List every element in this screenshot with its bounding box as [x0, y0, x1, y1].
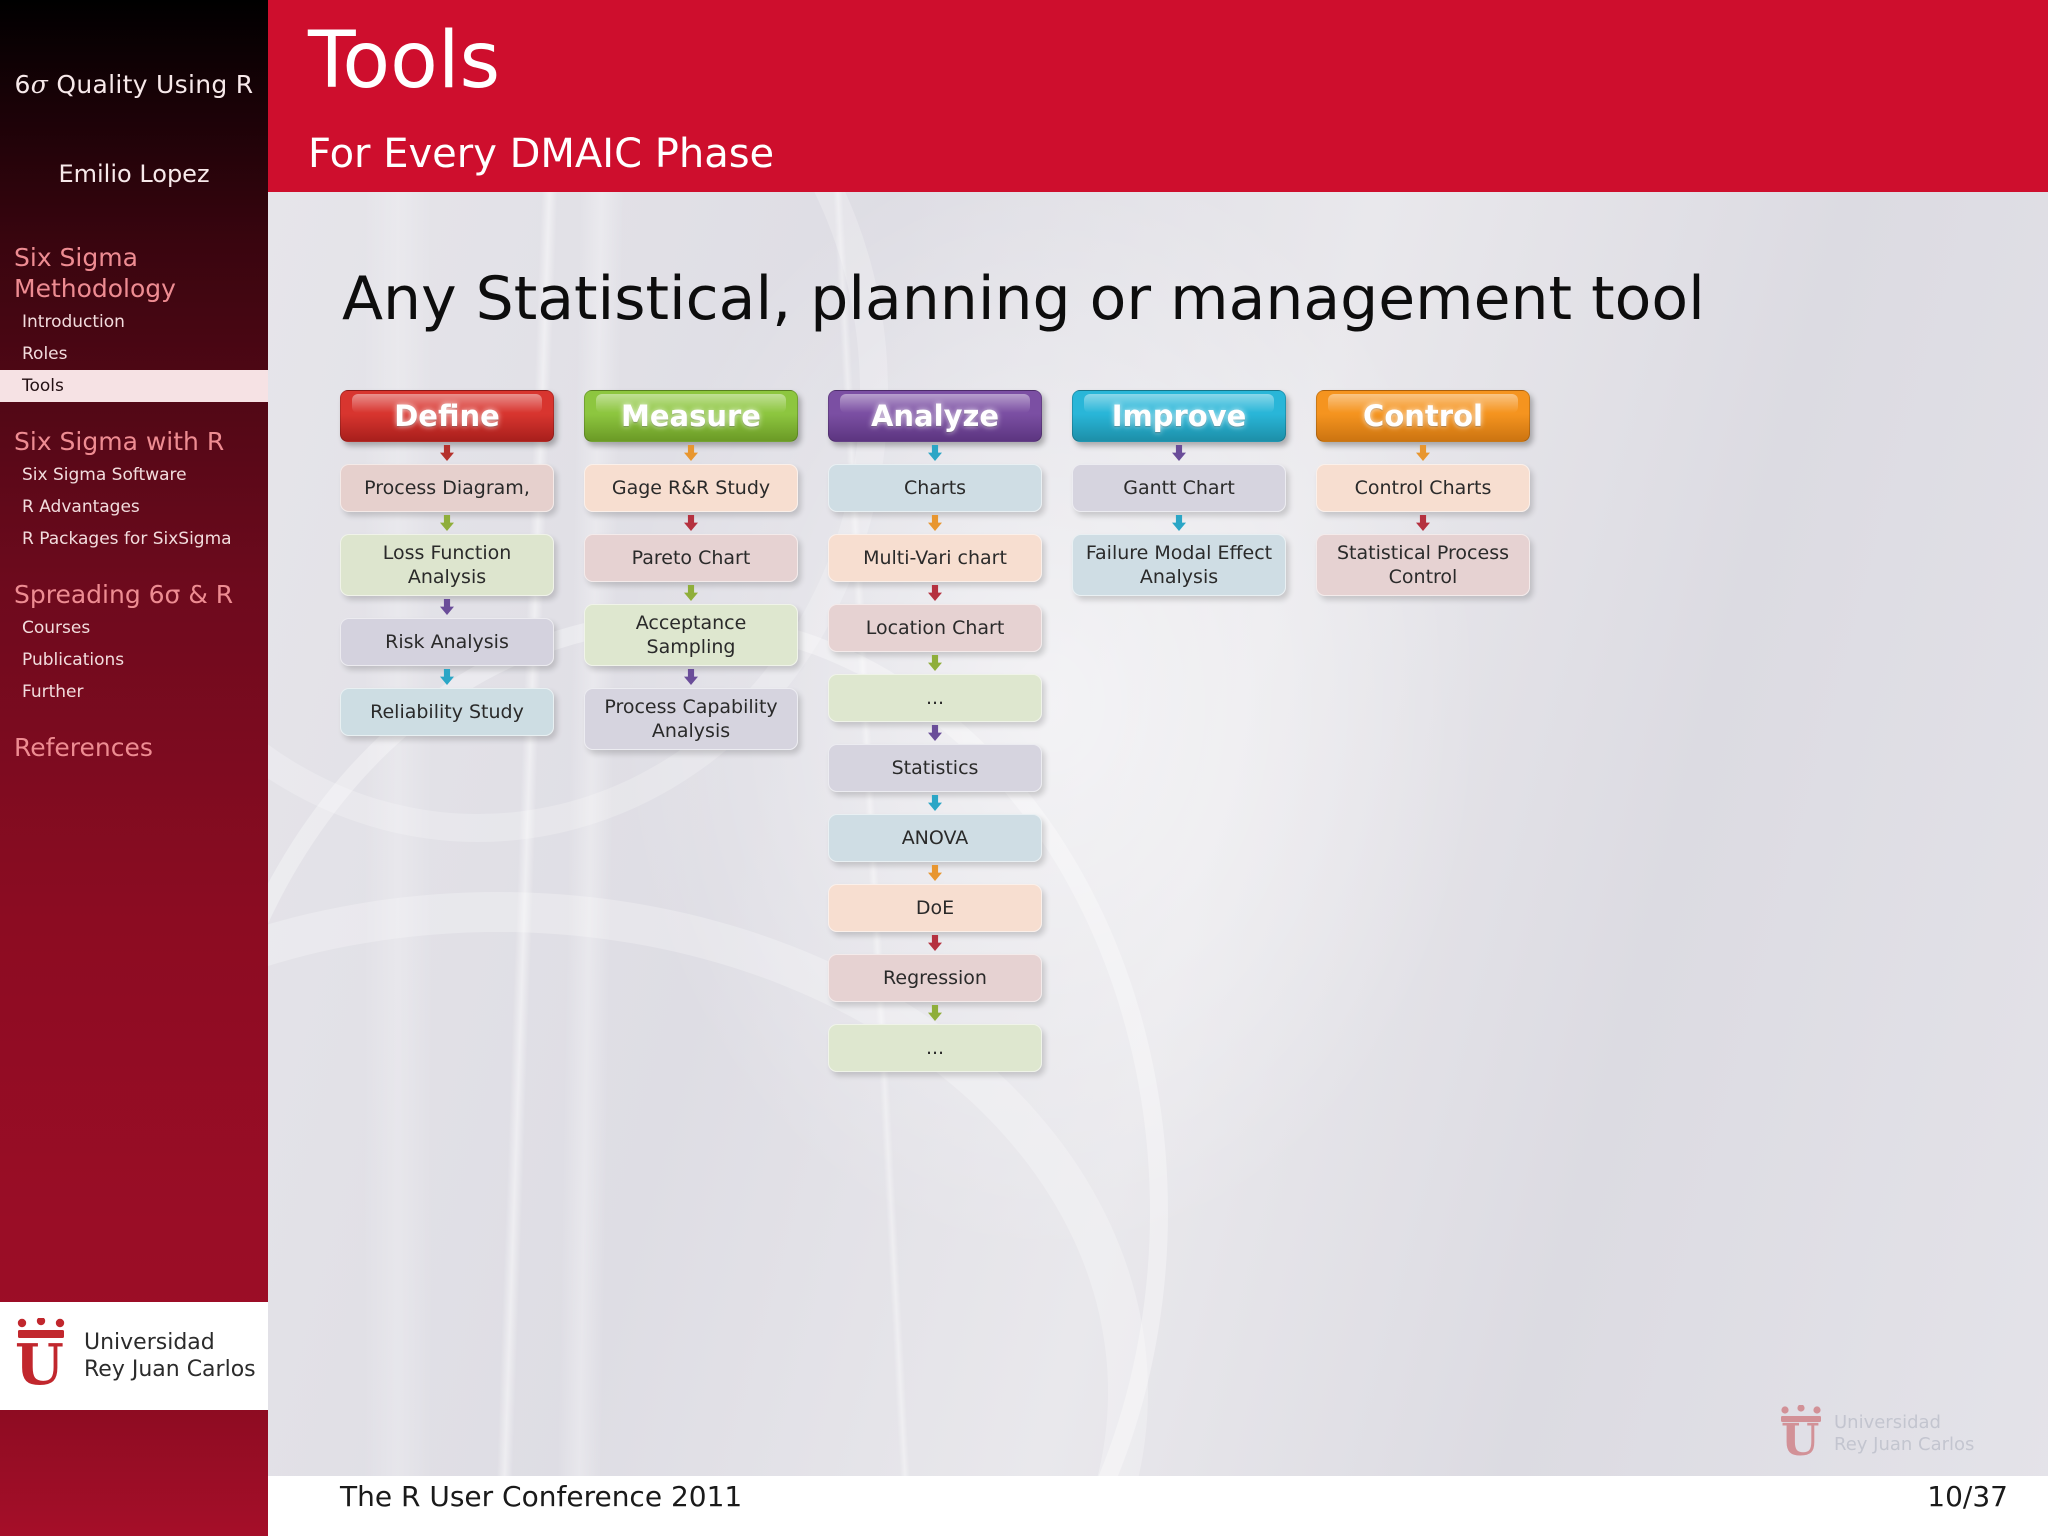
flow-node[interactable]: Charts	[828, 464, 1042, 512]
sidebar-item-six-sigma-methodology[interactable]: Six Sigma Methodology	[0, 236, 268, 306]
slide-body: Any Statistical, planning or management …	[268, 192, 2048, 1536]
urjc-crown-icon: U	[10, 1318, 72, 1394]
flow-node[interactable]: ANOVA	[828, 814, 1042, 862]
arrow-down-icon	[928, 655, 942, 671]
flow-node[interactable]: Pareto Chart	[584, 534, 798, 582]
corner-line1: Universidad	[1834, 1412, 1974, 1434]
flow-connector-arrow-icon	[828, 792, 1042, 814]
flow-connector-arrow-icon	[1072, 512, 1286, 534]
page-number: 10/37	[1927, 1480, 2008, 1513]
flow-node[interactable]: DoE	[828, 884, 1042, 932]
flow-node[interactable]: Gage R&R Study	[584, 464, 798, 512]
arrow-down-icon	[684, 585, 698, 601]
arrow-down-icon	[440, 669, 454, 685]
sidebar-item-further[interactable]: Further	[0, 676, 268, 708]
flow-connector-arrow-icon	[828, 512, 1042, 534]
arrow-down-icon	[440, 515, 454, 531]
flow-connector-arrow-icon	[340, 512, 554, 534]
flow-connector-arrow-icon	[828, 1002, 1042, 1024]
university-line1: Universidad	[84, 1329, 256, 1356]
flow-connector-arrow-icon	[1072, 442, 1286, 464]
flow-connector-arrow-icon	[584, 666, 798, 688]
slide-footer: The R User Conference 2011 10/37	[268, 1476, 2048, 1536]
flow-node[interactable]: ...	[828, 674, 1042, 722]
sidebar-nav: Six Sigma MethodologyIntroductionRolesTo…	[0, 236, 268, 765]
flow-column-define: DefineProcess Diagram,Loss Function Anal…	[340, 390, 554, 1430]
arrow-down-icon	[928, 585, 942, 601]
flow-node[interactable]: Regression	[828, 954, 1042, 1002]
sidebar-gap	[0, 708, 268, 726]
sidebar-item-courses[interactable]: Courses	[0, 612, 268, 644]
university-logo: U Universidad Rey Juan Carlos	[0, 1302, 268, 1410]
sidebar-item-introduction[interactable]: Introduction	[0, 306, 268, 338]
flow-node[interactable]: Process Capability Analysis	[584, 688, 798, 750]
flow-column-measure: MeasureGage R&R StudyPareto ChartAccepta…	[584, 390, 798, 1430]
corner-line2: Rey Juan Carlos	[1834, 1434, 1974, 1456]
dmaic-flow-diagram: DefineProcess Diagram,Loss Function Anal…	[340, 390, 2000, 1430]
arrow-down-icon	[1416, 445, 1430, 461]
arrow-down-icon	[1416, 515, 1430, 531]
corner-crown-icon: U	[1778, 1405, 1824, 1463]
flow-connector-arrow-icon	[828, 932, 1042, 954]
flow-connector-arrow-icon	[828, 442, 1042, 464]
presentation-title: 6σ Quality Using R	[0, 70, 268, 99]
flow-node[interactable]: Acceptance Sampling	[584, 604, 798, 666]
flow-connector-arrow-icon	[340, 596, 554, 618]
flow-connector-arrow-icon	[1316, 442, 1530, 464]
sigma-symbol: σ	[31, 70, 48, 99]
flow-connector-arrow-icon	[340, 666, 554, 688]
slide-subtitle: For Every DMAIC Phase	[308, 132, 774, 176]
sidebar-item-six-sigma-with-r[interactable]: Six Sigma with R	[0, 420, 268, 459]
presentation-author: Emilio Lopez	[0, 160, 268, 188]
corner-university-name: Universidad Rey Juan Carlos	[1834, 1412, 1974, 1456]
title-rest: Quality Using R	[48, 70, 253, 99]
arrow-down-icon	[1172, 445, 1186, 461]
sidebar-item-r-packages-for-sixsigma[interactable]: R Packages for SixSigma	[0, 523, 268, 555]
arrow-down-icon	[928, 725, 942, 741]
flow-node[interactable]: Location Chart	[828, 604, 1042, 652]
sidebar: 6σ Quality Using R Emilio Lopez Six Sigm…	[0, 0, 268, 1536]
body-heading: Any Statistical, planning or management …	[342, 264, 2002, 334]
flow-connector-arrow-icon	[584, 512, 798, 534]
sidebar-item-references[interactable]: References	[0, 726, 268, 765]
flow-connector-arrow-icon	[828, 652, 1042, 674]
phase-header-improve[interactable]: Improve	[1072, 390, 1286, 442]
flow-column-analyze: AnalyzeChartsMulti-Vari chartLocation Ch…	[828, 390, 1042, 1430]
phase-header-analyze[interactable]: Analyze	[828, 390, 1042, 442]
arrow-down-icon	[928, 445, 942, 461]
university-line2: Rey Juan Carlos	[84, 1356, 256, 1383]
flow-node[interactable]: Statistical Process Control	[1316, 534, 1530, 596]
arrow-down-icon	[440, 599, 454, 615]
sidebar-item-publications[interactable]: Publications	[0, 644, 268, 676]
flow-node[interactable]: Gantt Chart	[1072, 464, 1286, 512]
sidebar-bottom-bar	[0, 1410, 268, 1536]
slide-header: Tools For Every DMAIC Phase	[268, 0, 2048, 192]
flow-node[interactable]: Loss Function Analysis	[340, 534, 554, 596]
flow-connector-arrow-icon	[584, 582, 798, 604]
sidebar-item-tools[interactable]: Tools	[0, 370, 268, 402]
flow-connector-arrow-icon	[584, 442, 798, 464]
flow-connector-arrow-icon	[828, 582, 1042, 604]
flow-node[interactable]: Failure Modal Effect Analysis	[1072, 534, 1286, 596]
arrow-down-icon	[684, 669, 698, 685]
arrow-down-icon	[684, 515, 698, 531]
conference-name: The R User Conference 2011	[340, 1480, 742, 1513]
flow-node[interactable]: Statistics	[828, 744, 1042, 792]
phase-header-control[interactable]: Control	[1316, 390, 1530, 442]
flow-connector-arrow-icon	[828, 862, 1042, 884]
flow-column-control: ControlControl ChartsStatistical Process…	[1316, 390, 1530, 1430]
phase-header-measure[interactable]: Measure	[584, 390, 798, 442]
sidebar-item-six-sigma-software[interactable]: Six Sigma Software	[0, 459, 268, 491]
sidebar-item-r-advantages[interactable]: R Advantages	[0, 491, 268, 523]
arrow-down-icon	[928, 795, 942, 811]
flow-column-improve: ImproveGantt ChartFailure Modal Effect A…	[1072, 390, 1286, 1430]
arrow-down-icon	[928, 865, 942, 881]
sidebar-gap	[0, 555, 268, 573]
corner-university-logo: U Universidad Rey Juan Carlos	[1778, 1396, 2018, 1472]
flow-connector-arrow-icon	[828, 722, 1042, 744]
title-prefix: 6	[15, 70, 31, 99]
arrow-down-icon	[928, 515, 942, 531]
corner-urjc-letter: U	[1781, 1421, 1819, 1461]
arrow-down-icon	[684, 445, 698, 461]
university-name: Universidad Rey Juan Carlos	[84, 1329, 256, 1383]
urjc-letter: U	[15, 1340, 67, 1394]
flow-node[interactable]: Reliability Study	[340, 688, 554, 736]
slide-title: Tools	[308, 18, 500, 104]
sidebar-gap	[0, 402, 268, 420]
flow-node[interactable]: ...	[828, 1024, 1042, 1072]
flow-connector-arrow-icon	[1316, 512, 1530, 534]
arrow-down-icon	[928, 1005, 942, 1021]
flow-node[interactable]: Risk Analysis	[340, 618, 554, 666]
arrow-down-icon	[440, 445, 454, 461]
arrow-down-icon	[1172, 515, 1186, 531]
phase-header-define[interactable]: Define	[340, 390, 554, 442]
flow-connector-arrow-icon	[340, 442, 554, 464]
flow-node[interactable]: Control Charts	[1316, 464, 1530, 512]
sidebar-item-roles[interactable]: Roles	[0, 338, 268, 370]
sidebar-item-spreading-6-r[interactable]: Spreading 6σ & R	[0, 573, 268, 612]
flow-node[interactable]: Process Diagram,	[340, 464, 554, 512]
flow-node[interactable]: Multi-Vari chart	[828, 534, 1042, 582]
arrow-down-icon	[928, 935, 942, 951]
